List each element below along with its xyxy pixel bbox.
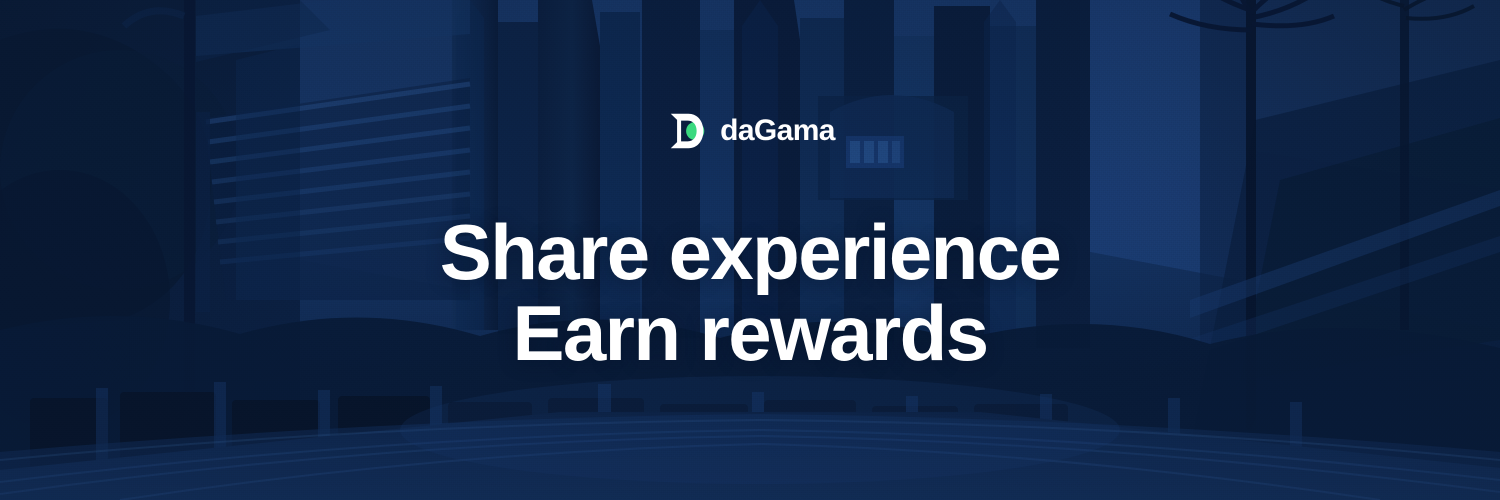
dagama-d-mark-icon bbox=[665, 108, 711, 154]
promo-banner: daGama Share experience Earn rewards bbox=[0, 0, 1500, 500]
dagama-wordmark: daGama bbox=[720, 116, 835, 146]
headline-line-2: Earn rewards bbox=[440, 293, 1060, 374]
page-title: Share experience Earn rewards bbox=[440, 212, 1060, 374]
dagama-logo[interactable]: daGama bbox=[665, 108, 835, 154]
banner-content: daGama Share experience Earn rewards bbox=[0, 0, 1500, 500]
headline-line-1: Share experience bbox=[440, 212, 1060, 293]
